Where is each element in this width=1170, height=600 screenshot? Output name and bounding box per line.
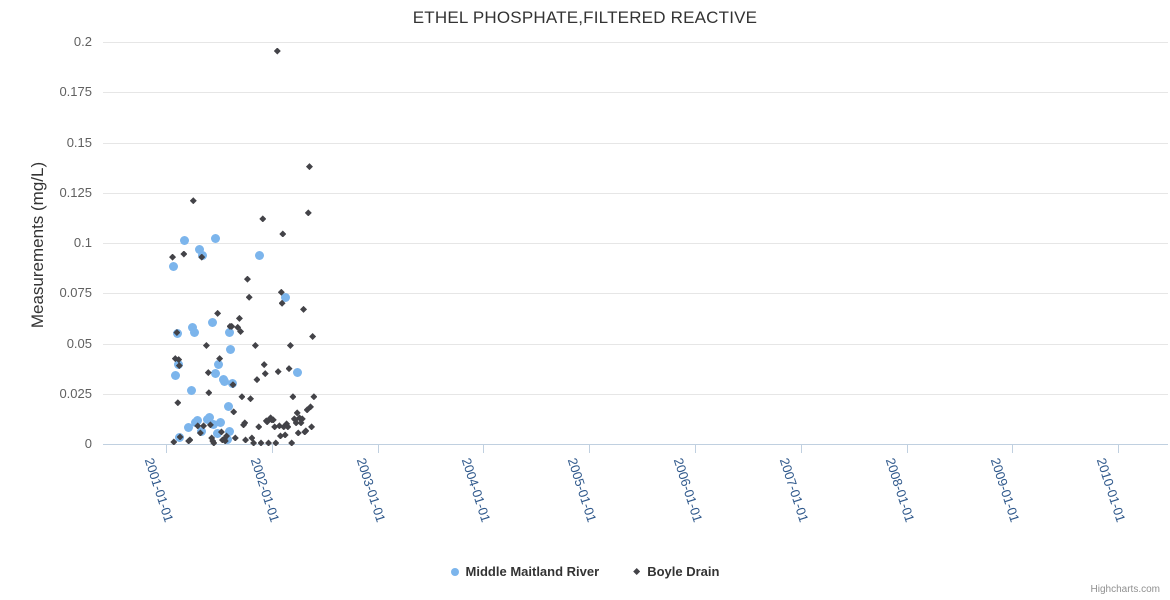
x-axis-tick-mark (483, 445, 484, 453)
x-axis-tick-mark (166, 445, 167, 453)
data-point[interactable] (195, 245, 204, 254)
data-point[interactable] (207, 421, 214, 428)
x-axis-tick-mark (1012, 445, 1013, 453)
data-point[interactable] (224, 402, 233, 411)
data-point[interactable] (205, 369, 212, 376)
y-axis-tick-label: 0.2 (12, 34, 92, 49)
data-point[interactable] (174, 360, 183, 369)
x-axis-tick-label: 2005-01-01 (565, 456, 600, 524)
data-point[interactable] (228, 323, 235, 330)
data-point[interactable] (308, 423, 315, 430)
x-axis-tick-label: 2010-01-01 (1094, 456, 1129, 524)
data-point[interactable] (259, 215, 266, 222)
data-point[interactable] (219, 436, 226, 443)
data-point[interactable] (210, 439, 217, 446)
data-point[interactable] (208, 318, 217, 327)
data-point[interactable] (177, 433, 184, 440)
data-point[interactable] (282, 431, 289, 438)
legend-item[interactable]: Boyle Drain (633, 564, 719, 579)
gridline (103, 394, 1168, 395)
x-axis-tick-mark (1118, 445, 1119, 453)
legend-item-label: Boyle Drain (647, 564, 719, 579)
data-point[interactable] (241, 419, 248, 426)
data-point[interactable] (305, 209, 312, 216)
data-point[interactable] (227, 323, 234, 330)
y-axis-tick-label: 0.15 (12, 135, 92, 150)
y-axis-tick-label: 0.05 (12, 336, 92, 351)
data-point[interactable] (255, 251, 264, 260)
data-point[interactable] (230, 408, 237, 415)
data-point[interactable] (193, 416, 202, 425)
data-point[interactable] (292, 416, 299, 423)
data-point[interactable] (288, 439, 295, 446)
data-point[interactable] (188, 323, 197, 332)
data-point[interactable] (293, 419, 300, 426)
data-point[interactable] (250, 439, 257, 446)
data-point[interactable] (174, 399, 181, 406)
legend-circle-icon (451, 568, 459, 576)
data-point[interactable] (237, 328, 244, 335)
data-point[interactable] (209, 420, 218, 429)
data-point[interactable] (190, 197, 197, 204)
data-point[interactable] (221, 435, 228, 442)
data-point[interactable] (225, 328, 234, 337)
gridline (103, 42, 1168, 43)
data-point[interactable] (175, 433, 184, 442)
y-axis-tick-label: 0 (12, 436, 92, 451)
legend-item[interactable]: Middle Maitland River (451, 564, 600, 579)
data-point[interactable] (270, 416, 277, 423)
data-point[interactable] (197, 427, 206, 436)
data-point[interactable] (191, 418, 200, 427)
data-point[interactable] (218, 428, 225, 435)
data-point[interactable] (169, 262, 178, 271)
data-point[interactable] (208, 434, 215, 441)
data-point[interactable] (304, 406, 311, 413)
data-point[interactable] (226, 345, 235, 354)
data-point[interactable] (299, 415, 306, 422)
data-point[interactable] (244, 276, 251, 283)
x-axis-tick-label: 2003-01-01 (353, 456, 388, 524)
data-point[interactable] (172, 355, 179, 362)
data-point[interactable] (242, 436, 249, 443)
data-point[interactable] (291, 415, 298, 422)
data-point[interactable] (247, 395, 254, 402)
data-point[interactable] (279, 300, 286, 307)
data-point[interactable] (173, 329, 182, 338)
gridline (103, 143, 1168, 144)
data-point[interactable] (267, 414, 274, 421)
x-axis-tick-label: 2009-01-01 (988, 456, 1023, 524)
chart-legend: Middle Maitland RiverBoyle Drain (0, 564, 1170, 579)
data-point[interactable] (234, 324, 241, 331)
data-point[interactable] (298, 419, 305, 426)
gridline (103, 243, 1168, 244)
data-point[interactable] (261, 361, 268, 368)
data-point[interactable] (283, 420, 290, 427)
data-point[interactable] (203, 415, 212, 424)
y-axis-tick-label: 0.125 (12, 185, 92, 200)
data-point[interactable] (223, 432, 230, 439)
data-point[interactable] (205, 389, 212, 396)
x-axis-tick-label: 2004-01-01 (459, 456, 494, 524)
data-point[interactable] (216, 355, 223, 362)
legend-diamond-icon (633, 568, 640, 575)
y-axis-tick-label: 0.1 (12, 235, 92, 250)
legend-item-label: Middle Maitland River (466, 564, 600, 579)
data-point[interactable] (236, 315, 243, 322)
data-point[interactable] (184, 423, 193, 432)
gridline (103, 344, 1168, 345)
data-point[interactable] (246, 294, 253, 301)
x-axis-tick-label: 2001-01-01 (142, 456, 177, 524)
data-point[interactable] (309, 333, 316, 340)
data-point[interactable] (296, 414, 303, 421)
x-axis-tick-mark (272, 445, 273, 453)
data-point[interactable] (198, 251, 207, 260)
x-axis-tick-mark (907, 445, 908, 453)
data-point[interactable] (266, 415, 273, 422)
gridline (103, 293, 1168, 294)
data-point[interactable] (284, 423, 291, 430)
data-point[interactable] (262, 370, 269, 377)
data-point[interactable] (276, 422, 283, 429)
data-point[interactable] (268, 416, 275, 423)
data-point[interactable] (229, 381, 236, 388)
data-point[interactable] (263, 417, 270, 424)
x-axis-tick-label: 2008-01-01 (882, 456, 917, 524)
data-point[interactable] (200, 422, 207, 429)
data-point[interactable] (280, 423, 287, 430)
x-axis-tick-mark (695, 445, 696, 453)
data-point[interactable] (279, 230, 286, 237)
data-point[interactable] (228, 379, 237, 388)
y-axis-tick-label: 0.175 (12, 84, 92, 99)
data-point[interactable] (211, 369, 220, 378)
x-axis-tick-mark (589, 445, 590, 453)
data-point[interactable] (198, 254, 205, 261)
data-point[interactable] (173, 329, 180, 336)
data-point[interactable] (216, 418, 225, 427)
x-axis-tick-label: 2006-01-01 (671, 456, 706, 524)
data-point[interactable] (180, 251, 187, 258)
data-point[interactable] (175, 356, 182, 363)
data-point[interactable] (286, 365, 293, 372)
data-point[interactable] (232, 434, 239, 441)
data-point[interactable] (307, 403, 314, 410)
data-point[interactable] (253, 376, 260, 383)
data-point[interactable] (271, 423, 278, 430)
chart-title: ETHEL PHOSPHATE,FILTERED REACTIVE (0, 8, 1170, 28)
data-point[interactable] (194, 422, 201, 429)
data-point[interactable] (294, 409, 301, 416)
data-point[interactable] (258, 439, 265, 446)
data-point[interactable] (186, 436, 193, 443)
data-point[interactable] (293, 368, 302, 377)
data-point[interactable] (219, 375, 228, 384)
data-point[interactable] (248, 434, 255, 441)
data-point[interactable] (213, 429, 222, 438)
data-point[interactable] (225, 427, 234, 436)
x-axis-tick-label: 2002-01-01 (248, 456, 283, 524)
data-point[interactable] (171, 371, 180, 380)
data-point[interactable] (255, 423, 262, 430)
data-point[interactable] (278, 289, 285, 296)
data-point[interactable] (240, 421, 247, 428)
data-point[interactable] (176, 362, 183, 369)
gridline (103, 92, 1168, 93)
data-point[interactable] (272, 439, 279, 446)
data-point[interactable] (214, 310, 221, 317)
data-point[interactable] (264, 418, 271, 425)
gridline (103, 193, 1168, 194)
y-axis-tick-label: 0.075 (12, 285, 92, 300)
data-point[interactable] (180, 236, 189, 245)
plot-area (103, 42, 1168, 444)
x-axis-tick-label: 2007-01-01 (777, 456, 812, 524)
data-point[interactable] (275, 368, 282, 375)
data-point[interactable] (197, 429, 204, 436)
data-point[interactable] (301, 428, 308, 435)
x-axis-tick-mark (801, 445, 802, 453)
data-point[interactable] (295, 429, 302, 436)
data-point[interactable] (274, 48, 281, 55)
highcharts-credit[interactable]: Highcharts.com (1091, 584, 1160, 595)
chart-container: ETHEL PHOSPHATE,FILTERED REACTIVE Measur… (0, 0, 1170, 600)
data-point[interactable] (169, 254, 176, 261)
data-point[interactable] (300, 306, 307, 313)
x-axis-tick-mark (378, 445, 379, 453)
data-point[interactable] (220, 377, 229, 386)
data-point[interactable] (205, 413, 214, 422)
x-axis-line (103, 444, 1168, 445)
data-point[interactable] (190, 328, 199, 337)
data-point[interactable] (277, 432, 284, 439)
data-point[interactable] (302, 427, 309, 434)
data-point[interactable] (214, 360, 223, 369)
y-axis-tick-label: 0.025 (12, 386, 92, 401)
data-point[interactable] (306, 163, 313, 170)
